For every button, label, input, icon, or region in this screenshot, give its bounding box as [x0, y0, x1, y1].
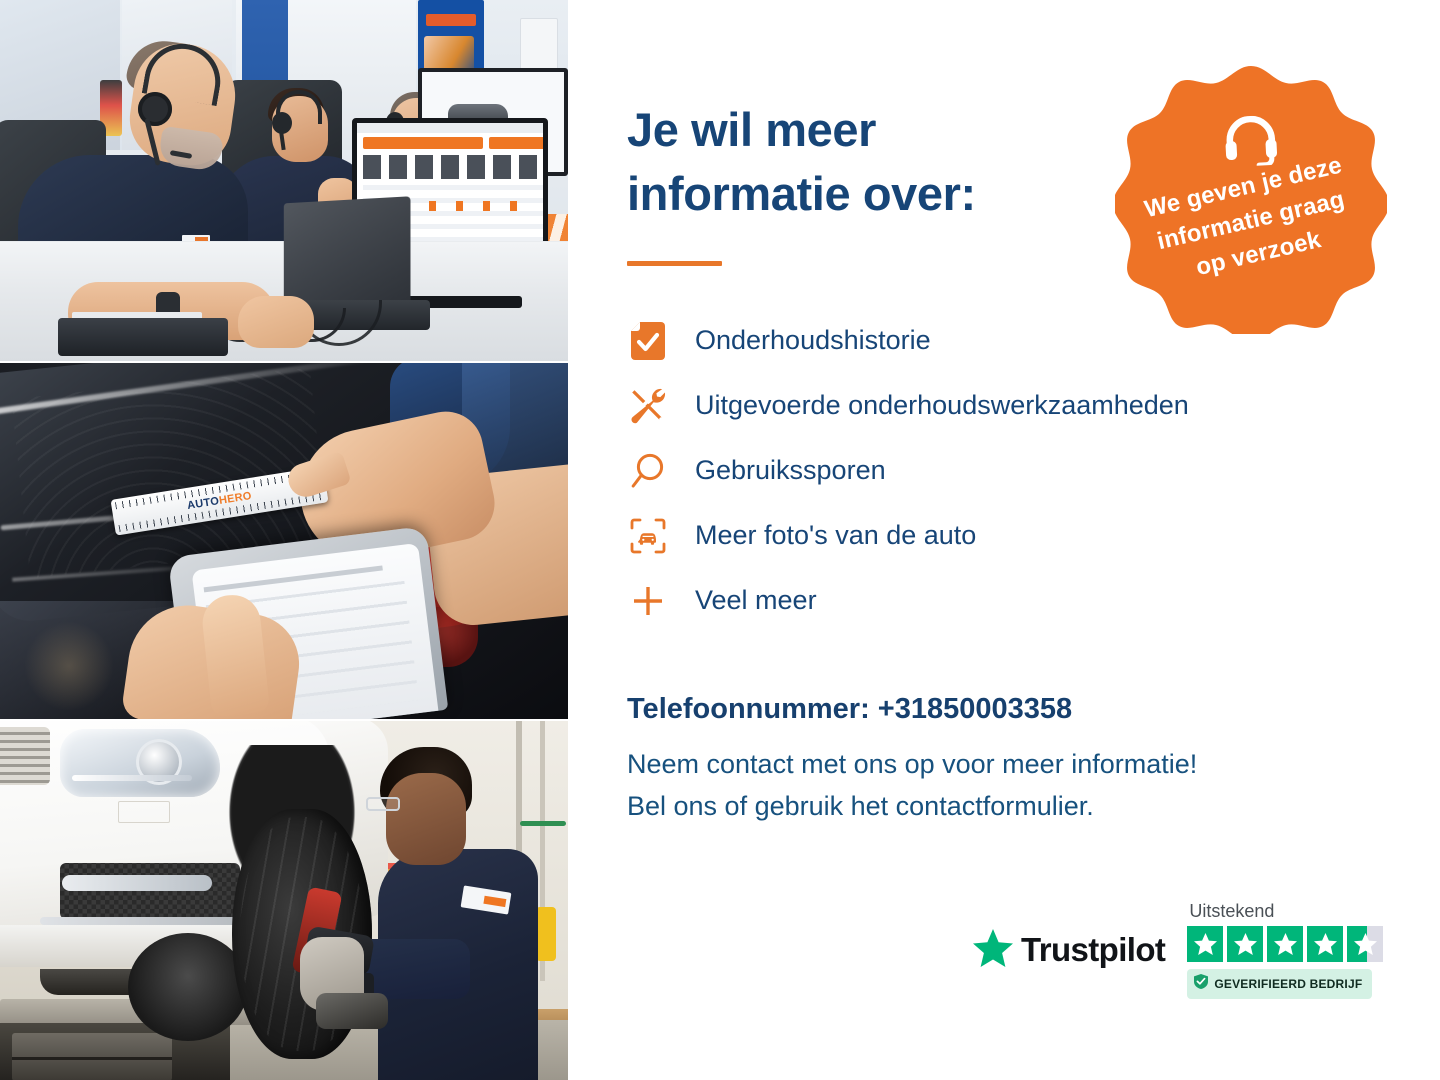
trustpilot-rating-block: Uitstekend — [1187, 901, 1383, 999]
lower-grille — [60, 863, 240, 919]
phone-number-line: Telefoonnummer: +31850003358 — [627, 693, 1072, 726]
mechanic-glasses — [366, 797, 400, 811]
feature-label: Gebruikssporen — [695, 456, 886, 486]
photo-column: AUTOHERO — [0, 0, 568, 1080]
trustpilot-star-icon — [973, 929, 1013, 972]
document-check-icon — [627, 320, 669, 362]
tool-drawer-line — [12, 1057, 172, 1060]
wrench-screwdriver-icon — [627, 385, 669, 427]
headline-line-1: Je wil meer — [627, 98, 1147, 162]
trustpilot-rating-word: Uitstekend — [1189, 901, 1274, 922]
contact-instruction: Neem contact met ons op voor meer inform… — [627, 744, 1387, 828]
headline-line-2: informatie over: — [627, 162, 1147, 226]
monitor-browser-bar — [357, 123, 543, 133]
car-grille — [0, 727, 50, 785]
monitor-car-thumbnails — [363, 155, 548, 179]
agent-one-hand — [238, 296, 314, 348]
trustpilot-star-1 — [1187, 926, 1223, 962]
feature-item-much-more: Veel meer — [627, 568, 1367, 633]
mechanic-head — [386, 773, 466, 865]
badge-content: We geven je deze informatie graag op ver… — [1115, 62, 1387, 334]
trustpilot-logo: Trustpilot — [973, 929, 1165, 972]
page-title: Je wil meer informatie over: — [627, 98, 1147, 227]
feature-label: Veel meer — [695, 586, 817, 616]
trustpilot-stars — [1187, 926, 1383, 962]
feature-item-more-photos: Meer foto's van de auto — [627, 503, 1367, 568]
monitor-banner-right — [489, 137, 545, 149]
feature-list: Onderhoudshistorie Uitgevoerde onder — [627, 308, 1367, 633]
information-banner: AUTOHERO — [0, 0, 1440, 1080]
verified-shield-icon — [1194, 974, 1208, 994]
headlight-led-strip — [72, 775, 192, 781]
feature-label: Onderhoudshistorie — [695, 326, 931, 356]
call-centre-agents-photo — [0, 0, 568, 361]
mechanic-second-hand — [316, 993, 388, 1029]
car-inspection-ruler-photo: AUTOHERO — [0, 363, 568, 719]
trustpilot-star-3 — [1267, 926, 1303, 962]
verified-business-badge: GEVERIFIEERD BEDRIJF — [1187, 969, 1372, 999]
trustpilot-brand-name: Trustpilot — [1021, 931, 1165, 969]
feature-item-maintenance-work: Uitgevoerde onderhoudswerkzaamheden — [627, 373, 1367, 438]
feature-item-wear-traces: Gebruikssporen — [627, 438, 1367, 503]
yellow-canister — [536, 907, 556, 961]
content-column: Je wil meer informatie over: Onderhoudsh… — [568, 0, 1440, 1080]
agent-one-earcup — [138, 92, 172, 126]
title-divider — [627, 261, 722, 266]
feature-label: Meer foto's van de auto — [695, 521, 976, 551]
trustpilot-widget[interactable]: Trustpilot Uitstekend — [973, 898, 1373, 1002]
badge-text: We geven je deze informatie graag op ver… — [1127, 145, 1374, 296]
green-hose — [520, 821, 566, 826]
desk-tablet — [58, 318, 228, 356]
chrome-trim — [40, 917, 240, 925]
wall-notice — [520, 18, 558, 70]
plus-icon — [627, 580, 669, 622]
magnifier-icon — [627, 450, 669, 492]
trustpilot-star-2 — [1227, 926, 1263, 962]
trustpilot-star-4 — [1307, 926, 1343, 962]
mechanic-wheel-photo — [0, 721, 568, 1080]
verified-business-label: GEVERIFIEERD BEDRIJF — [1214, 977, 1362, 991]
request-info-badge: We geven je deze informatie graag op ver… — [1115, 62, 1387, 334]
trustpilot-star-5-partial — [1347, 926, 1383, 962]
wheel-hub — [128, 933, 248, 1041]
feature-label: Uitgevoerde onderhoudswerkzaamheden — [695, 391, 1189, 421]
fog-light — [62, 875, 212, 891]
number-plate-recess — [118, 801, 170, 823]
contact-line-2: Bel ons of gebruik het contactformulier. — [627, 786, 1387, 828]
laptop-screen — [284, 196, 411, 312]
car-scan-icon — [627, 515, 669, 557]
monitor-banner-left — [363, 137, 483, 149]
panel-reflection-warm — [24, 621, 114, 711]
contact-line-1: Neem contact met ons op voor meer inform… — [627, 744, 1387, 786]
